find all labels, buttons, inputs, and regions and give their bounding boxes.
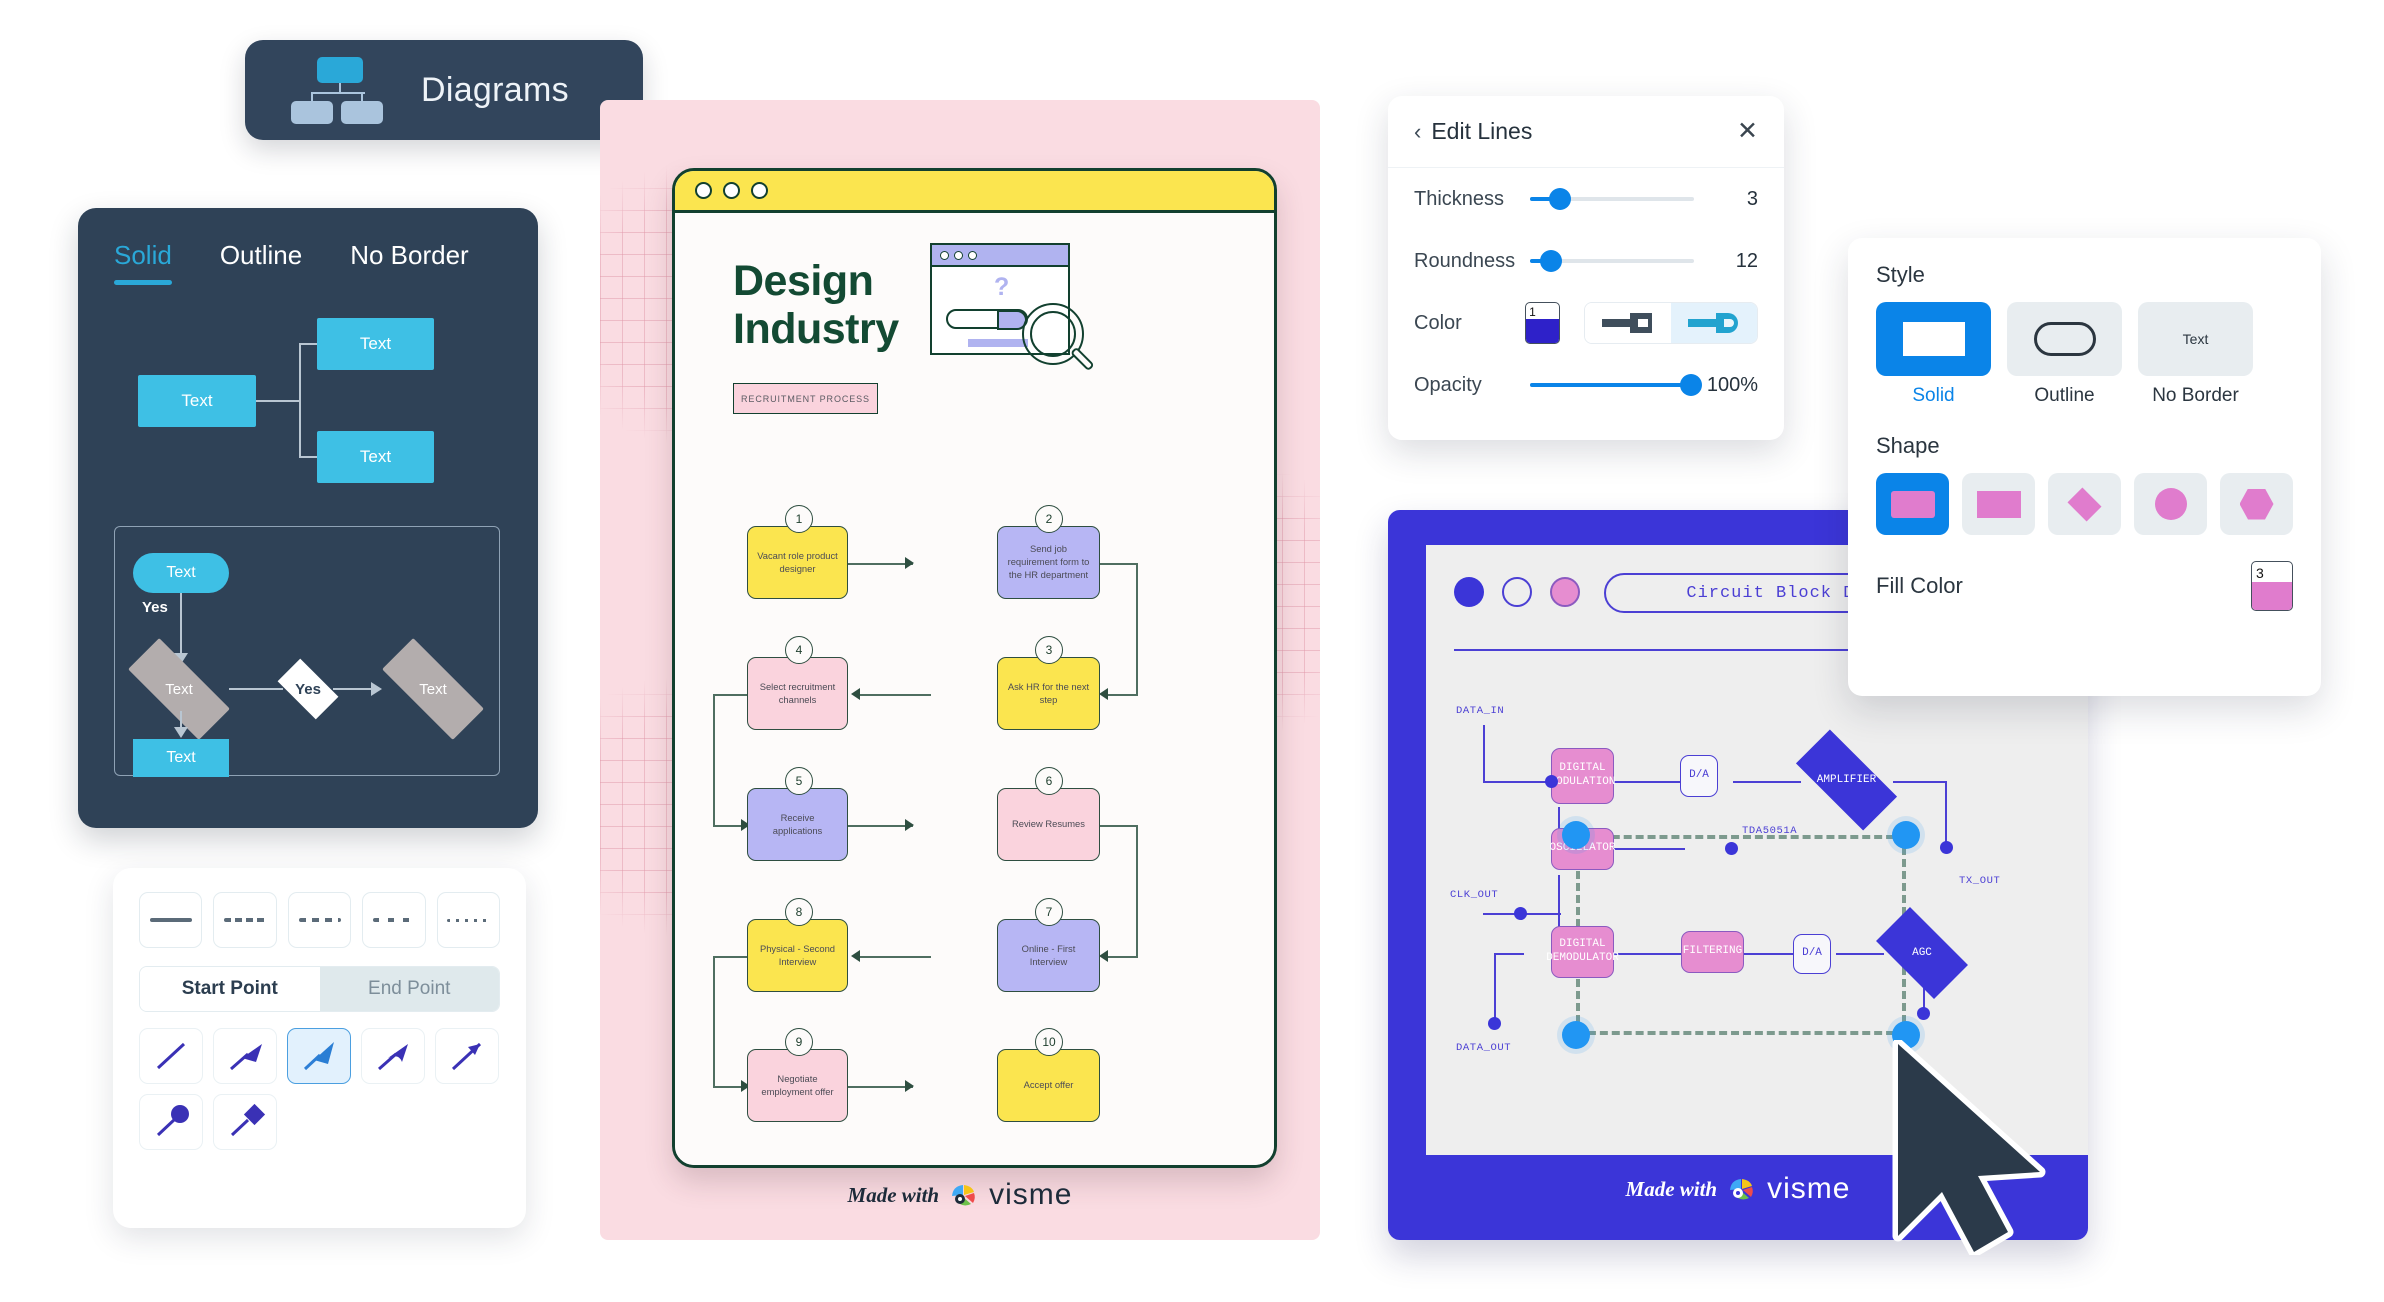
roundness-label: Roundness: [1414, 250, 1530, 273]
flow-step-10[interactable]: Accept offer: [997, 1049, 1100, 1122]
style-option-outline[interactable]: [2007, 302, 2122, 376]
style-option-solid[interactable]: [1876, 302, 1991, 376]
flow-preview-frame: Text Yes Text Yes Text Text: [114, 526, 500, 776]
flow-step-9[interactable]: Negotiate employment offer: [747, 1049, 848, 1122]
shape-option-diamond[interactable]: [2048, 473, 2121, 535]
opacity-slider[interactable]: [1530, 383, 1694, 387]
style-option-outline-label: Outline: [2007, 385, 2122, 407]
dash-style-dash-wide[interactable]: [362, 892, 425, 948]
shape-heading: Shape: [1876, 433, 2293, 459]
line-color-swatch[interactable]: 1: [1525, 302, 1560, 344]
block-agc[interactable]: AGC: [1881, 929, 1963, 977]
roundness-row: Roundness 12: [1388, 230, 1784, 292]
line-style-panel: Start Point End Point: [113, 868, 526, 1228]
style-option-no-border-group: Text No Border: [2138, 302, 2253, 407]
browser-titlebar: [675, 171, 1274, 213]
style-heading: Style: [1876, 262, 2293, 288]
flow-step-3[interactable]: Ask HR for the next step: [997, 657, 1100, 730]
style-option-solid-label: Solid: [1876, 385, 1991, 407]
fill-color-row: Fill Color 3: [1876, 561, 2293, 611]
thickness-row: Thickness 3: [1388, 168, 1784, 230]
flow-step-6-number: 6: [1035, 767, 1063, 795]
flow-step-2-text: Send job requirement form to the HR depa…: [1006, 543, 1091, 581]
flow-decision-2[interactable]: Text: [383, 667, 483, 711]
flow-step-6-text: Review Resumes: [1012, 818, 1085, 831]
flow-step-5-text: Receive applications: [756, 812, 839, 837]
terminal-agc-out: [1917, 1007, 1930, 1020]
flow-step-1-text: Vacant role product designer: [756, 550, 839, 575]
shape-option-rect[interactable]: [1962, 473, 2035, 535]
endpoint-diamond-endpoint-icon[interactable]: [213, 1094, 277, 1150]
text-only-icon: Text: [2183, 331, 2209, 347]
flow-step-1-number: 1: [785, 505, 813, 533]
block-da-2[interactable]: D/A: [1793, 934, 1831, 974]
preview-node-2[interactable]: Text: [317, 318, 434, 370]
hexagon-shape-icon: [2240, 489, 2274, 520]
flow-step-6[interactable]: Review Resumes: [997, 788, 1100, 861]
opacity-row: Opacity 100%: [1388, 354, 1784, 416]
color-row: Color 1: [1388, 292, 1784, 354]
dash-style-dash-tight[interactable]: [213, 892, 276, 948]
poster-browser-frame: Design Industry RECRUITMENT PROCESS ?: [672, 168, 1277, 1168]
roundness-slider[interactable]: [1530, 259, 1694, 263]
flow-step-1[interactable]: Vacant role product designer: [747, 526, 848, 599]
shape-option-circle[interactable]: [2134, 473, 2207, 535]
shape-option-rounded-rect[interactable]: [1876, 473, 1949, 535]
preview-node-3[interactable]: Text: [317, 431, 434, 483]
color-label: Color: [1414, 312, 1525, 335]
endpoint-thin-arrow-icon[interactable]: [435, 1028, 499, 1084]
block-agc-label: AGC: [1912, 947, 1932, 959]
flow-step-9-number: 9: [785, 1028, 813, 1056]
chevron-left-icon[interactable]: ‹: [1414, 119, 1421, 145]
flow-step-9-text: Negotiate employment offer: [756, 1073, 839, 1098]
solid-rect-icon: [1903, 322, 1965, 356]
flow-step-7[interactable]: Online - First Interview: [997, 919, 1100, 992]
flow-step-5[interactable]: Receive applications: [747, 788, 848, 861]
terminal-tx-out: [1940, 841, 1953, 854]
terminal-tda5051a: [1725, 842, 1738, 855]
flow-step-4-number: 4: [785, 636, 813, 664]
visme-logo-icon: [1727, 1176, 1757, 1202]
fill-color-swatch[interactable]: 3: [2251, 561, 2293, 611]
dash-style-dotted[interactable]: [437, 892, 500, 948]
thickness-value: 3: [1694, 188, 1758, 211]
style-option-list: Solid Outline Text No Border: [1876, 302, 2293, 407]
selection-handle-top-left[interactable]: [1562, 821, 1590, 849]
shape-option-list: [1876, 473, 2293, 535]
flow-step-10-number: 10: [1035, 1028, 1063, 1056]
window-dot-icon: [751, 182, 768, 199]
label-data-in: DATA_IN: [1456, 705, 1504, 717]
endpoint-grid: [139, 1028, 500, 1150]
screenshot-root: Diagrams Solid Outline No Border Text Te…: [0, 0, 2384, 1302]
terminal-data-out: [1488, 1017, 1501, 1030]
flow-decision-2-label: Text: [419, 681, 447, 698]
flow-step-8[interactable]: Physical - Second Interview: [747, 919, 848, 992]
header-dot-filled-pink-icon: [1550, 577, 1580, 607]
fill-color-swatch-number: 3: [2252, 562, 2292, 584]
tab-end-point[interactable]: End Point: [320, 967, 500, 1011]
dash-style-solid[interactable]: [139, 892, 202, 948]
style-tab-list: Solid Outline No Border: [114, 240, 502, 285]
tab-solid[interactable]: Solid: [114, 240, 172, 285]
label-data-out: DATA_OUT: [1456, 1042, 1511, 1054]
outline-pill-icon: [2034, 322, 2096, 356]
flow-step-7-text: Online - First Interview: [1006, 943, 1091, 968]
window-dot-icon: [723, 182, 740, 199]
flow-step-7-number: 7: [1035, 898, 1063, 926]
endpoint-segment-tabs: Start Point End Point: [139, 966, 500, 1012]
mouse-pointer-icon: [1890, 1040, 2070, 1255]
visme-wordmark: visme: [989, 1178, 1072, 1212]
square-cap-icon[interactable]: [1585, 303, 1671, 343]
tab-no-border[interactable]: No Border: [350, 240, 469, 285]
header-dot-hollow-icon: [1502, 577, 1532, 607]
circle-shape-icon: [2155, 488, 2187, 520]
recruitment-flowchart: Vacant role product designer 1 Send job …: [675, 213, 1274, 1168]
rounded-rect-shape-icon: [1891, 491, 1935, 518]
round-cap-icon[interactable]: [1671, 303, 1757, 343]
label-clk-out: CLK_OUT: [1450, 889, 1498, 901]
endpoint-filled-arrow-wide-icon[interactable]: [213, 1028, 277, 1084]
window-dot-icon: [695, 182, 712, 199]
style-option-solid-group: Solid: [1876, 302, 1991, 407]
flow-edge-label-2: Yes: [295, 681, 321, 698]
flow-edge-label-2-diamond: Yes: [281, 673, 335, 705]
selection-handle-top-right[interactable]: [1892, 821, 1920, 849]
selection-handle-bottom-left[interactable]: [1562, 1021, 1590, 1049]
made-with-label: Made with: [848, 1183, 940, 1208]
flow-end-node[interactable]: Text: [133, 739, 229, 777]
diamond-shape-icon: [2068, 487, 2102, 521]
recruitment-poster-card: Design Industry RECRUITMENT PROCESS ?: [600, 100, 1320, 1240]
flow-step-4-text: Select recruitment channels: [756, 681, 839, 706]
block-da-1[interactable]: D/A: [1680, 755, 1718, 797]
visme-attribution: Made with visme: [600, 1178, 1320, 1212]
terminal-data-in: [1545, 775, 1558, 788]
flow-step-3-text: Ask HR for the next step: [1006, 681, 1091, 706]
thickness-label: Thickness: [1414, 188, 1530, 211]
block-digital-modulation[interactable]: DIGITAL MODULATION: [1551, 748, 1614, 804]
endpoint-circle-endpoint-icon[interactable]: [139, 1094, 203, 1150]
flow-step-3-number: 3: [1035, 636, 1063, 664]
style-option-no-border[interactable]: Text: [2138, 302, 2253, 376]
flow-step-4[interactable]: Select recruitment channels: [747, 657, 848, 730]
visme-wordmark: visme: [1767, 1172, 1850, 1206]
flow-step-5-number: 5: [785, 767, 813, 795]
flow-start-node[interactable]: Text: [133, 553, 229, 593]
shape-style-dark-panel: Solid Outline No Border Text Text Text T…: [78, 208, 538, 828]
flow-decision-1[interactable]: Text: [129, 667, 229, 711]
block-amplifier-label: AMPLIFIER: [1817, 774, 1876, 786]
edit-lines-header: ‹ Edit Lines ✕: [1388, 96, 1784, 168]
org-chart-icon: [291, 57, 381, 123]
made-with-label: Made with: [1626, 1177, 1718, 1202]
rect-shape-icon: [1977, 491, 2021, 518]
edit-lines-title-group: ‹ Edit Lines: [1414, 118, 1532, 145]
org-preview: Text Text Text: [114, 313, 502, 473]
terminal-clk-out: [1514, 907, 1527, 920]
endpoint-concave-arrow-icon[interactable]: [361, 1028, 425, 1084]
dash-style-dash-medium[interactable]: [288, 892, 351, 948]
endpoint-solid-arrow-icon[interactable]: [287, 1028, 351, 1084]
block-digital-demodulator[interactable]: DIGITAL DEMODULATOR: [1551, 926, 1614, 978]
edit-lines-panel: ‹ Edit Lines ✕ Thickness 3 Roundness 12 …: [1388, 96, 1784, 440]
dash-style-row: [139, 892, 500, 948]
style-option-no-border-label: No Border: [2138, 385, 2253, 407]
shape-option-hexagon[interactable]: [2220, 473, 2293, 535]
flow-step-2[interactable]: Send job requirement form to the HR depa…: [997, 526, 1100, 599]
flow-edge-label-1: Yes: [142, 599, 168, 616]
visme-logo-icon: [949, 1182, 979, 1208]
header-dot-filled-indigo-icon: [1454, 577, 1484, 607]
style-shape-panel: Style Solid Outline Text No Border: [1848, 238, 2321, 696]
fill-color-label: Fill Color: [1876, 573, 1963, 599]
diagrams-badge[interactable]: Diagrams: [245, 40, 643, 140]
roundness-value: 12: [1694, 250, 1758, 273]
thickness-slider[interactable]: [1530, 197, 1694, 201]
flow-decision-1-label: Text: [165, 681, 193, 698]
opacity-value: 100%: [1694, 374, 1758, 397]
label-tx-out: TX_OUT: [1959, 875, 2000, 887]
flow-step-8-text: Physical - Second Interview: [756, 943, 839, 968]
opacity-label: Opacity: [1414, 374, 1530, 397]
endpoint-plain-line-icon[interactable]: [139, 1028, 203, 1084]
block-amplifier[interactable]: AMPLIFIER: [1799, 756, 1894, 804]
line-cap-toggle: [1584, 302, 1758, 344]
preview-node-1[interactable]: Text: [138, 375, 256, 427]
poster-body: Design Industry RECRUITMENT PROCESS ?: [675, 213, 1274, 1168]
block-filtering[interactable]: FILTERING: [1681, 931, 1744, 973]
flow-step-2-number: 2: [1035, 505, 1063, 533]
close-icon[interactable]: ✕: [1737, 119, 1758, 144]
tab-outline[interactable]: Outline: [220, 240, 302, 285]
style-option-outline-group: Outline: [2007, 302, 2122, 407]
flow-step-8-number: 8: [785, 898, 813, 926]
edit-lines-title: Edit Lines: [1431, 118, 1532, 145]
diagrams-label: Diagrams: [421, 71, 569, 110]
flow-step-10-text: Accept offer: [1024, 1079, 1074, 1092]
tab-start-point[interactable]: Start Point: [140, 967, 320, 1011]
